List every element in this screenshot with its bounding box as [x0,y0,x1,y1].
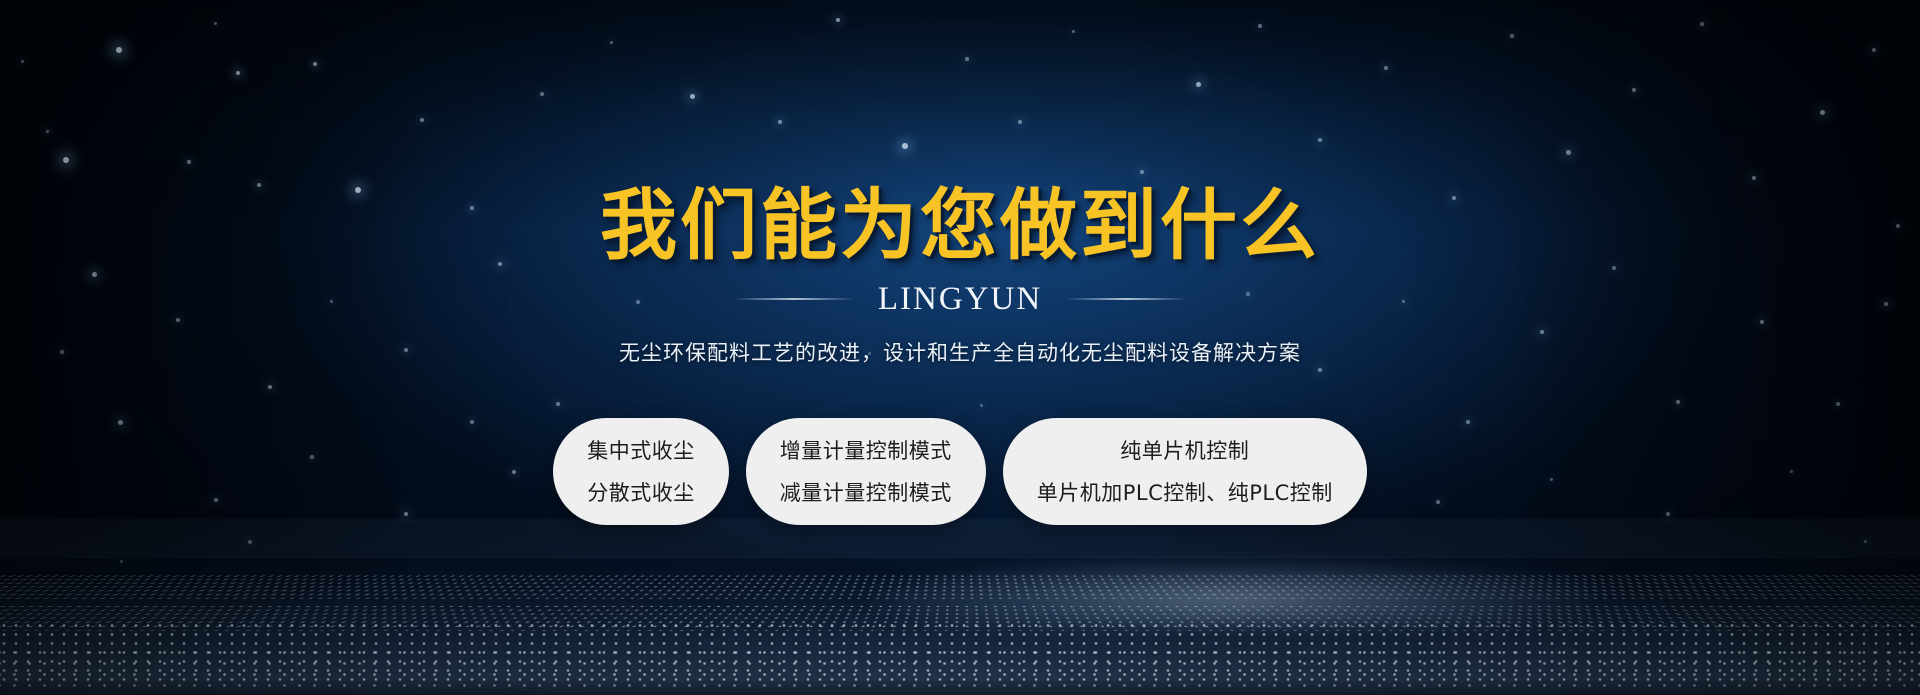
feature-card-dust-collection[interactable]: 集中式收尘 分散式收尘 [553,418,729,525]
card-line: 增量计量控制模式 [780,435,952,465]
hero-banner: 我们能为您做到什么 LINGYUN 无尘环保配料工艺的改进，设计和生产全自动化无… [0,0,1920,695]
banner-content: 我们能为您做到什么 LINGYUN 无尘环保配料工艺的改进，设计和生产全自动化无… [0,0,1920,695]
brand-rule-left [736,298,852,300]
page-title: 我们能为您做到什么 [600,0,1320,267]
feature-card-metering-mode[interactable]: 增量计量控制模式 减量计量控制模式 [746,418,986,525]
page-subtitle: 无尘环保配料工艺的改进，设计和生产全自动化无尘配料设备解决方案 [619,337,1301,367]
feature-card-list: 集中式收尘 分散式收尘 增量计量控制模式 减量计量控制模式 纯单片机控制 单片机… [553,418,1367,525]
card-line: 单片机加PLC控制、纯PLC控制 [1037,477,1333,507]
brand-name: LINGYUN [878,281,1042,318]
brand-row: LINGYUN [736,281,1184,318]
feature-card-control-system[interactable]: 纯单片机控制 单片机加PLC控制、纯PLC控制 [1003,418,1367,525]
card-line: 减量计量控制模式 [780,477,952,507]
card-line: 集中式收尘 [587,435,695,465]
card-line: 纯单片机控制 [1120,435,1249,465]
brand-rule-right [1068,298,1184,300]
card-line: 分散式收尘 [587,477,695,507]
